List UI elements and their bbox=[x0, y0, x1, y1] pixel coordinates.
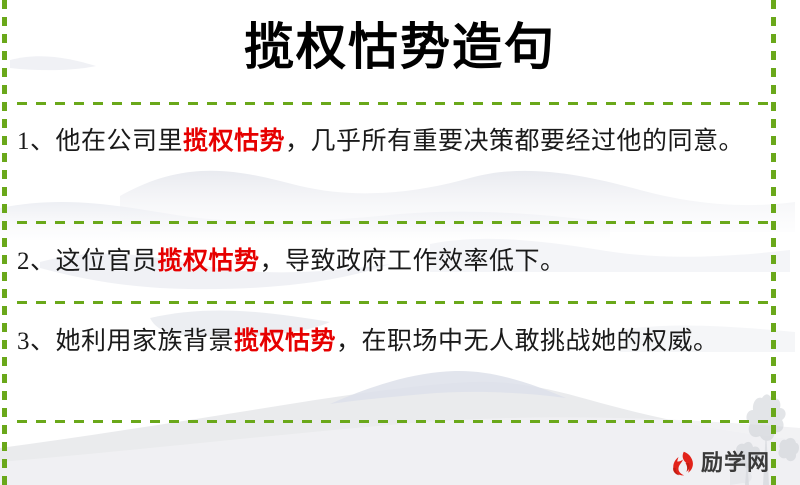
sentence-text-after-2: ，导致政府工作效率低下。 bbox=[260, 248, 566, 275]
sentence-item-3: 3、她利用家族背景揽权怙势，在职场中无人敢挑战她的权威。 bbox=[17, 322, 767, 362]
divider-1 bbox=[17, 221, 769, 224]
watermark-label: 励学网 bbox=[701, 453, 770, 475]
flame-swirl-icon bbox=[668, 450, 696, 478]
page-canvas: 揽权怙势造句 1、他在公司里揽权怙势，几乎所有重要决策都要经过他的同意。 2、这… bbox=[0, 0, 800, 485]
sentence-text-before-2: 这位官员 bbox=[56, 248, 158, 275]
sentence-index-1: 1、 bbox=[17, 128, 56, 155]
page-border-left bbox=[2, 0, 7, 485]
idiom-highlight-1: 揽权怙势 bbox=[183, 128, 285, 155]
idiom-highlight-2: 揽权怙势 bbox=[158, 248, 260, 275]
sentence-item-2: 2、这位官员揽权怙势，导致政府工作效率低下。 bbox=[17, 242, 767, 282]
sentence-text-after-1: ，几乎所有重要决策都要经过他的同意。 bbox=[285, 128, 744, 155]
idiom-highlight-3: 揽权怙势 bbox=[234, 328, 336, 355]
divider-bottom bbox=[17, 420, 769, 423]
page-title: 揽权怙势造句 bbox=[0, 12, 800, 82]
sentence-index-3: 3、 bbox=[17, 328, 56, 355]
sentence-text-after-3: ，在职场中无人敢挑战她的权威。 bbox=[336, 328, 719, 355]
sentence-text-before-1: 他在公司里 bbox=[56, 128, 184, 155]
sentence-index-2: 2、 bbox=[17, 248, 56, 275]
sentence-text-before-3: 她利用家族背景 bbox=[56, 328, 235, 355]
content-area: 揽权怙势造句 1、他在公司里揽权怙势，几乎所有重要决策都要经过他的同意。 2、这… bbox=[0, 0, 800, 485]
page-border-right bbox=[771, 0, 776, 485]
divider-2 bbox=[17, 301, 769, 304]
divider-top bbox=[17, 102, 769, 105]
sentence-item-1: 1、他在公司里揽权怙势，几乎所有重要决策都要经过他的同意。 bbox=[17, 122, 767, 162]
site-watermark: 励学网 bbox=[668, 449, 770, 479]
